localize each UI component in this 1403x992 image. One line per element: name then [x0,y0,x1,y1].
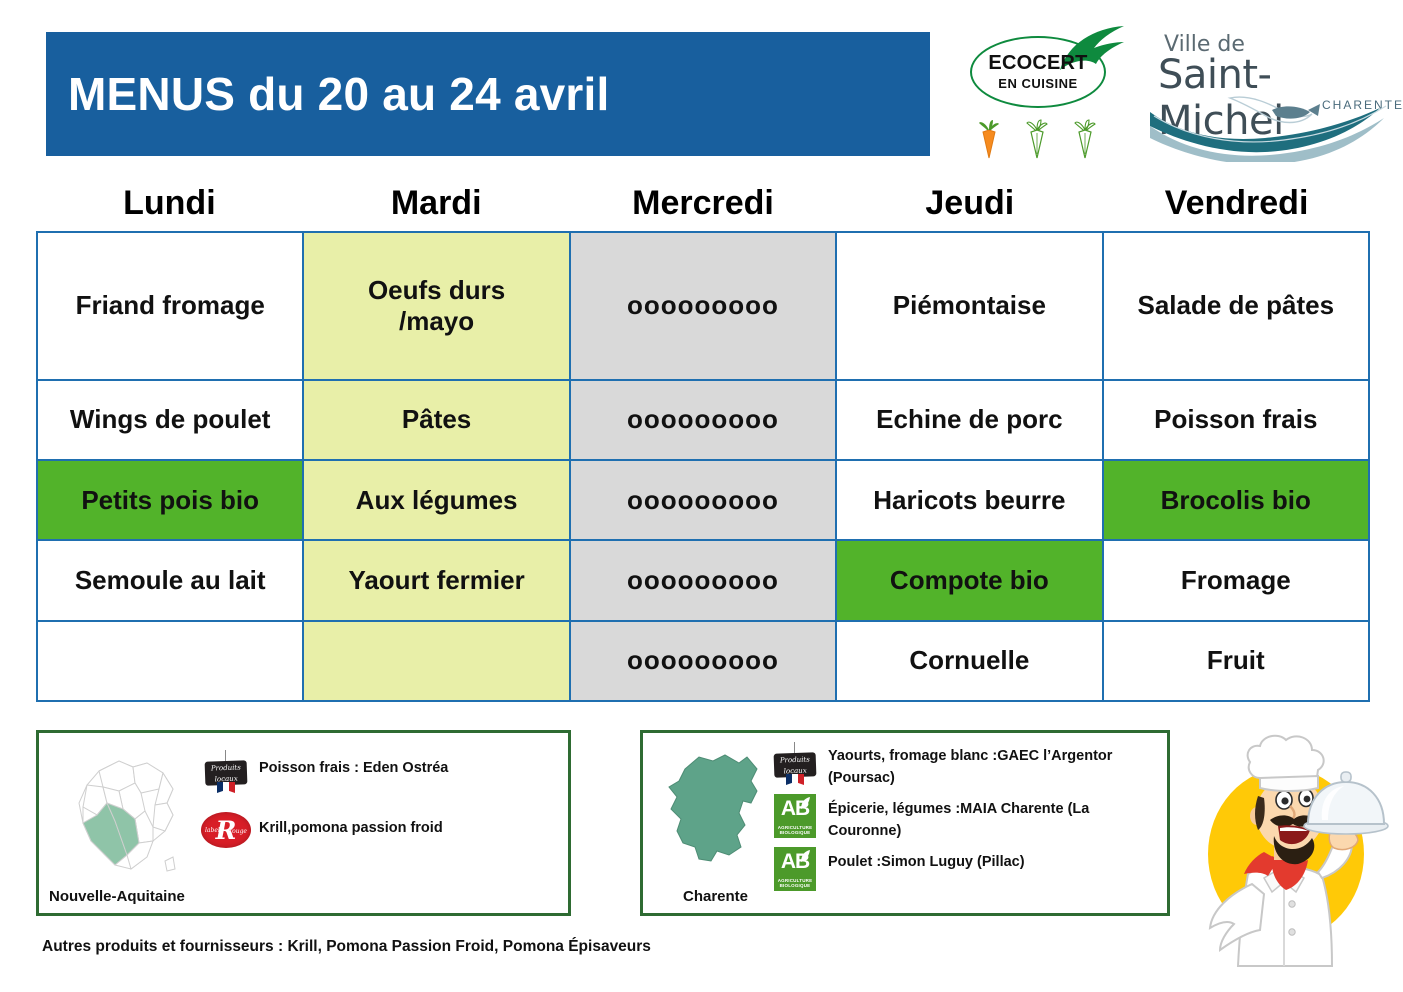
supplier-entry-poulet: AB AGRICULTURE BIOLOGIQUE Poulet :Simon … [768,847,1158,891]
menu-cell-lundi-2[interactable]: Wings de poulet [37,380,303,460]
day-headers-row: Lundi Mardi Mercredi Jeudi Vendredi [36,184,1370,223]
produits-locaux-badge: Produits locaux [199,749,253,795]
menu-cell-mardi-2[interactable]: Pâtes [303,380,569,460]
menu-cell-lundi-5[interactable] [37,621,303,701]
french-flag-icon [786,774,804,785]
supplier-text-poulet: Poulet :Simon Luguy (Pillac) [822,847,1025,873]
produits-locaux-badge: Produits locaux [768,741,822,787]
day-header-mercredi: Mercredi [570,184,837,223]
menu-cell-vendredi-3[interactable]: Brocolis bio [1103,460,1369,540]
menu-cell-vendredi-5[interactable]: Fruit [1103,621,1369,701]
ab-subtitle: AGRICULTURE BIOLOGIQUE [774,878,816,889]
menu-cell-jeudi-2[interactable]: Echine de porc [836,380,1102,460]
supplier-entry-yaourts: Produits locaux Yaourts, fromage blanc :… [768,741,1158,790]
chalkboard-sign-icon: Produits locaux [774,752,817,777]
chalkboard-sign-icon: Produits locaux [205,760,248,785]
label-rouge-badge: label rouge R [199,809,253,851]
menu-cell-jeudi-1[interactable]: Piémontaise [836,232,1102,380]
day-header-lundi: Lundi [36,184,303,223]
supplier-entry-krill: label rouge R Krill,pomona passion froid [199,809,559,851]
supplier-box-charente: Charente Produits locaux Yaourts, fromag… [640,730,1170,916]
france-map-graphic [61,745,196,885]
menu-cell-mercredi-3[interactable]: ooooooooo [570,460,836,540]
menu-cell-lundi-1[interactable]: Friand fromage [37,232,303,380]
ville-saint-michel-logo: Ville de Saint-Michel CHARENTE [1140,24,1390,164]
table-row: Wings de poulet Pâtes ooooooooo Echine d… [37,380,1369,460]
supplier-text-epicerie: Épicerie, légumes :MAIA Charente (La Cou… [822,794,1158,843]
chef-illustration [1186,726,1392,984]
agriculture-biologique-badge: AB AGRICULTURE BIOLOGIQUE [768,794,822,838]
menu-cell-mercredi-1[interactable]: ooooooooo [570,232,836,380]
menu-cell-mercredi-2[interactable]: ooooooooo [570,380,836,460]
menu-cell-mardi-1[interactable]: Oeufs durs/mayo [303,232,569,380]
page-title: MENUS du 20 au 24 avril [46,67,609,121]
supplier-entry-poisson-frais: Produits locaux Poisson frais : Eden Ost… [199,749,559,795]
carrot-rating [976,118,1098,160]
menu-cell-mercredi-5[interactable]: ooooooooo [570,621,836,701]
agriculture-biologique-badge: AB AGRICULTURE BIOLOGIQUE [768,847,822,891]
ab-subtitle-line2: BIOLOGIQUE [774,830,816,836]
table-row: Friand fromage Oeufs durs/mayo ooooooooo… [37,232,1369,380]
table-row: ooooooooo Cornuelle Fruit [37,621,1369,701]
menu-cell-mardi-4[interactable]: Yaourt fermier [303,540,569,620]
menu-cell-vendredi-4[interactable]: Fromage [1103,540,1369,620]
leaf-icon [799,849,811,863]
supplier-box-nouvelle-aquitaine: Nouvelle-Aquitaine Produits locaux Poiss… [36,730,571,916]
supplier-entries-right: Produits locaux Yaourts, fromage blanc :… [768,741,1158,895]
title-banner: MENUS du 20 au 24 avril [46,32,930,156]
menu-poster: MENUS du 20 au 24 avril ECOCERT EN CUISI… [0,0,1403,992]
ab-subtitle: AGRICULTURE BIOLOGIQUE [774,825,816,836]
label-rouge-letter: R [201,812,251,848]
ecocert-subtitle: EN CUISINE [978,76,1098,91]
day-header-vendredi: Vendredi [1103,184,1370,223]
table-row: Semoule au lait Yaourt fermier ooooooooo… [37,540,1369,620]
day-header-mardi: Mardi [303,184,570,223]
leaf-icon [799,796,811,810]
carrot-icon-outline-2 [1072,118,1098,160]
menu-cell-mardi-5[interactable] [303,621,569,701]
produits-locaux-line2: locaux [774,763,816,776]
carrot-icon-outline-1 [1024,118,1050,160]
supplier-text-krill: Krill,pomona passion froid [253,809,443,839]
footer-note: Autres produits et fournisseurs : Krill,… [42,938,651,956]
menu-cell-vendredi-2[interactable]: Poisson frais [1103,380,1369,460]
charente-map-graphic [655,747,775,879]
map-caption-charente: Charente [683,888,748,905]
supplier-text-poisson-frais: Poisson frais : Eden Ostréa [253,749,448,779]
supplier-entry-epicerie: AB AGRICULTURE BIOLOGIQUE Épicerie, légu… [768,794,1158,843]
menu-table-body: Friand fromage Oeufs durs/mayo ooooooooo… [37,232,1369,701]
day-header-jeudi: Jeudi [836,184,1103,223]
ab-subtitle-line2: BIOLOGIQUE [774,883,816,889]
menu-cell-mercredi-4[interactable]: ooooooooo [570,540,836,620]
supplier-entries-left: Produits locaux Poisson frais : Eden Ost… [199,749,559,865]
menu-cell-jeudi-5[interactable]: Cornuelle [836,621,1102,701]
menu-cell-jeudi-3[interactable]: Haricots beurre [836,460,1102,540]
produits-locaux-line2: locaux [205,771,247,784]
menu-cell-lundi-4[interactable]: Semoule au lait [37,540,303,620]
map-caption-nouvelle-aquitaine: Nouvelle-Aquitaine [49,888,185,905]
menu-cell-vendredi-1[interactable]: Salade de pâtes [1103,232,1369,380]
french-flag-icon [217,782,235,793]
menu-cell-jeudi-4[interactable]: Compote bio [836,540,1102,620]
menu-table: Friand fromage Oeufs durs/mayo ooooooooo… [36,231,1370,702]
carrot-icon-filled [976,118,1002,160]
wave-fish-graphic [1140,82,1390,162]
produits-locaux-line1: Produits [774,752,816,765]
ecocert-logo: ECOCERT EN CUISINE [962,26,1132,166]
menu-cell-lundi-3[interactable]: Petits pois bio [37,460,303,540]
ecocert-name: ECOCERT [978,52,1098,75]
supplier-text-yaourts: Yaourts, fromage blanc :GAEC l’Argentor … [822,741,1158,790]
produits-locaux-line1: Produits [205,760,247,773]
menu-cell-mardi-3[interactable]: Aux légumes [303,460,569,540]
table-row: Petits pois bio Aux légumes ooooooooo Ha… [37,460,1369,540]
